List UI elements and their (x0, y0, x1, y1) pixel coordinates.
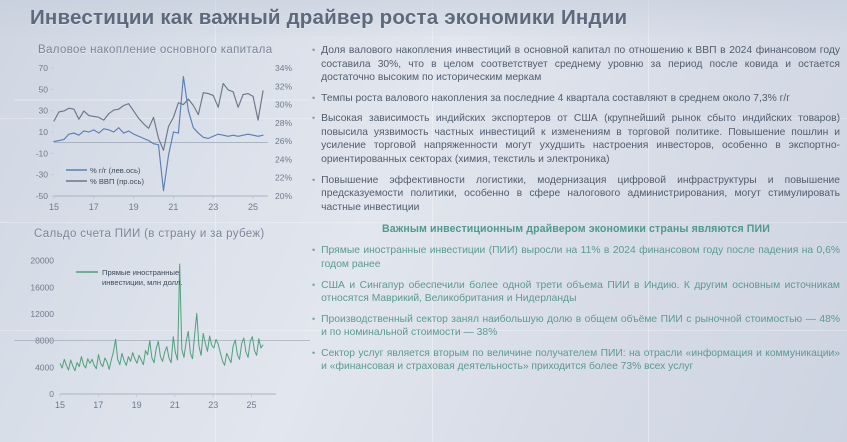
svg-text:70: 70 (39, 63, 49, 73)
chart-title: Валовое накопление основного капитала (38, 44, 310, 56)
bullet-text: Сектор услуг является вторым по величине… (321, 347, 840, 374)
slide-title-bar: Инвестиции как важный драйвер роста экон… (0, 0, 847, 36)
svg-text:30: 30 (39, 106, 49, 116)
svg-text:19: 19 (132, 400, 142, 410)
bullet-text: Высокая зависимость индийских экспортеро… (321, 112, 840, 166)
section-subheading: Важным инвестиционным драйвером экономик… (312, 223, 840, 235)
svg-text:34%: 34% (275, 63, 292, 73)
svg-text:12000: 12000 (30, 309, 54, 319)
bullet-glyph: • (312, 92, 315, 106)
svg-text:20%: 20% (275, 191, 292, 201)
chart-plot-area: 040008000120001600020000151719212325Прям… (14, 246, 310, 424)
bullet-glyph: • (312, 279, 315, 306)
svg-text:-30: -30 (36, 170, 49, 180)
svg-text:15: 15 (55, 400, 65, 410)
bullet-text: Производственный сектор занял наибольшую… (321, 313, 840, 340)
bullet-item: • Высокая зависимость индийских экспорте… (312, 112, 840, 166)
chart-title: Сальдо счета ПИИ (в страну и за рубеж) (34, 228, 310, 240)
page-title: Инвестиции как важный драйвер роста экон… (30, 6, 627, 30)
svg-text:15: 15 (49, 202, 59, 212)
bullet-glyph: • (312, 44, 315, 85)
svg-text:17: 17 (93, 400, 103, 410)
bullet-item: • Прямые иностранные инвестиции (ПИИ) вы… (312, 244, 840, 271)
bullet-item: • Производственный сектор занял наибольш… (312, 313, 840, 340)
content-text-column: • Доля валового накопления инвестиций в … (312, 44, 840, 381)
svg-text:-10: -10 (36, 148, 49, 158)
svg-text:25: 25 (247, 400, 257, 410)
bullet-item: • Темпы роста валового накопления за пос… (312, 92, 840, 106)
bullet-item: • США и Сингапур обеспечили более одной … (312, 279, 840, 306)
svg-text:23: 23 (208, 400, 218, 410)
bullet-item: • Повышение эффективности логистики, мод… (312, 174, 840, 215)
svg-text:-50: -50 (36, 191, 49, 201)
svg-text:21: 21 (170, 400, 180, 410)
chart-canvas: -50-30-101030507020%22%24%26%28%30%32%34… (14, 62, 310, 224)
svg-text:21: 21 (168, 202, 178, 212)
legend-label: инвестиции, млн долл. (102, 278, 183, 287)
bullet-text: Повышение эффективности логистики, модер… (321, 174, 840, 215)
svg-text:23: 23 (208, 202, 218, 212)
svg-text:24%: 24% (275, 154, 292, 164)
bullet-text: США и Сингапур обеспечили более одной тр… (321, 279, 840, 306)
svg-text:4000: 4000 (35, 362, 54, 372)
svg-text:32%: 32% (275, 81, 292, 91)
svg-text:50: 50 (39, 84, 49, 94)
bullet-glyph: • (312, 313, 315, 340)
svg-text:0: 0 (49, 389, 54, 399)
svg-text:16000: 16000 (30, 282, 54, 292)
bullet-item: • Доля валового накопления инвестиций в … (312, 44, 840, 85)
legend-label: % г/г (лев.ось) (90, 166, 141, 175)
bullet-text: Прямые иностранные инвестиции (ПИИ) выро… (321, 244, 840, 271)
svg-text:10: 10 (39, 127, 49, 137)
bullet-text: Доля валового накопления инвестиций в ос… (321, 44, 840, 85)
legend-label: % ВВП (пр.ось) (90, 177, 145, 186)
bullet-glyph: • (312, 112, 315, 166)
svg-text:19: 19 (129, 202, 139, 212)
svg-text:22%: 22% (275, 173, 292, 183)
bullet-text: Темпы роста валового накопления за после… (321, 92, 840, 106)
bullet-glyph: • (312, 244, 315, 271)
chart-fdi-account-balance: Сальдо счета ПИИ (в страну и за рубеж) 0… (14, 228, 310, 428)
legend-label: Прямые иностранные (102, 268, 179, 277)
bullet-glyph: • (312, 347, 315, 374)
svg-text:26%: 26% (275, 136, 292, 146)
svg-text:25: 25 (248, 202, 258, 212)
chart-gross-fixed-capital-formation: Валовое накопление основного капитала -5… (14, 44, 310, 224)
chart-plot-area: -50-30-101030507020%22%24%26%28%30%32%34… (14, 62, 310, 224)
svg-text:20000: 20000 (30, 256, 54, 266)
chart-canvas: 040008000120001600020000151719212325Прям… (14, 246, 310, 424)
svg-text:28%: 28% (275, 118, 292, 128)
bullet-item: • Сектор услуг является вторым по величи… (312, 347, 840, 374)
svg-text:17: 17 (89, 202, 99, 212)
bullet-glyph: • (312, 174, 315, 215)
svg-text:30%: 30% (275, 100, 292, 110)
